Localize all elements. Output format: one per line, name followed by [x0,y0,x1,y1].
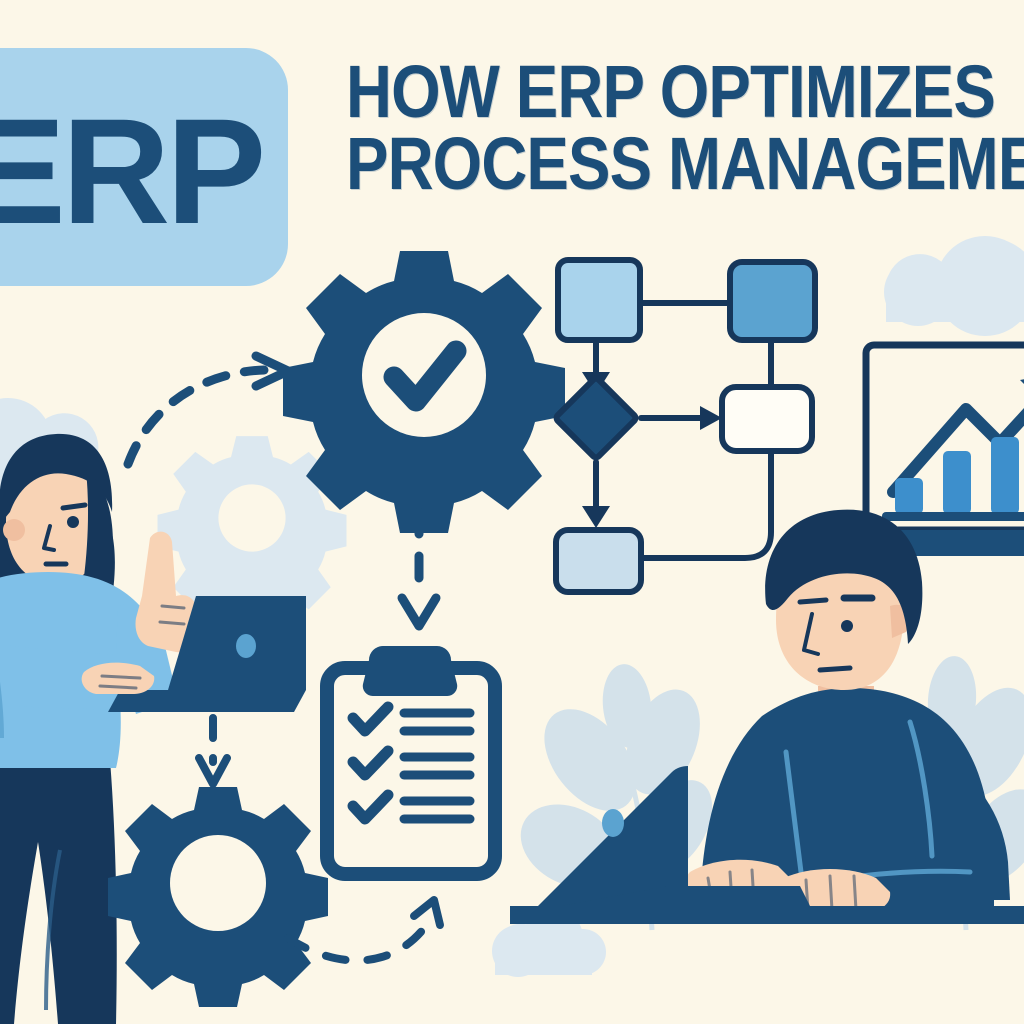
woman-ear [3,519,25,541]
clipboard-icon [327,646,495,874]
woman-pants [0,760,117,1024]
man-eye [841,620,853,632]
page-title-line-2: PROCESS MANAGEMENT [346,128,1000,200]
woman-brow [63,505,85,508]
woman-laptop-logo [236,634,256,658]
woman-eye [67,516,79,528]
chart-bar-3 [991,437,1019,514]
clipboard-clip [363,646,457,696]
man-mouth [820,668,850,670]
chart-baseline [882,512,1024,521]
man-laptop-logo [602,809,624,837]
page-title-line-1: HOW ERP OPTIMIZES [346,56,1000,128]
page-title: HOW ERP OPTIMIZES PROCESS MANAGEMENT [346,56,1000,200]
chart-bar-2 [943,451,971,514]
flow-node-5 [556,530,641,592]
desk-surface [510,906,1024,924]
flow-node-4 [722,387,812,451]
man-brow [800,600,826,602]
illustration-canvas: ERP HOW ERP OPTIMIZES PROCESS MANAGEMENT [0,0,1024,1024]
gear-check-icon [283,251,565,533]
flow-node-1 [558,260,640,340]
flow-node-2 [730,262,815,340]
logo-text: ERP [0,96,290,246]
chart-bar-1 [895,478,923,514]
gear-ring-icon [108,787,328,1007]
